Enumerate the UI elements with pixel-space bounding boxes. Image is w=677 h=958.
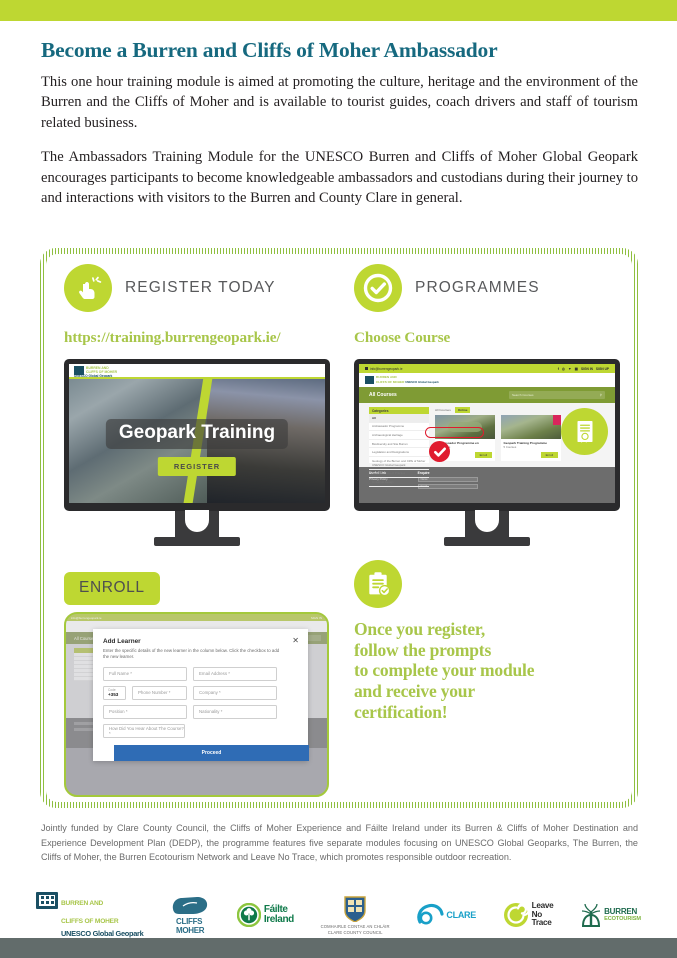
sign-in-link[interactable]: SIGN IN <box>581 367 593 371</box>
course-enroll-button[interactable]: Enroll <box>541 452 558 458</box>
company-field[interactable]: Company * <box>193 686 277 700</box>
logo-line-2: CLIFFS OF MOHER <box>86 370 117 374</box>
position-field[interactable]: Position * <box>103 705 187 719</box>
add-learner-dialog: Add Learner ✕ Enter the specific details… <box>93 629 308 761</box>
logo-sub: UNESCO Global Geopark <box>61 929 143 938</box>
calendar-icon[interactable]: ▦ <box>575 367 578 371</box>
clare-swirl-icon <box>416 902 446 928</box>
category-item[interactable]: Biodiversity and Site Burren <box>369 440 429 449</box>
logo-burren-cliffs-moher-geopark: BURREN AND CLIFFS OF MOHER UNESCO Global… <box>36 892 143 938</box>
step-enroll: ENROLL <box>64 572 344 605</box>
logo-sub: UNESCO Global Geopark <box>405 380 439 384</box>
search-input[interactable]: Search Courses ⚲ <box>509 391 605 399</box>
cliff-shape-icon <box>170 895 210 917</box>
highlight-ring-annotation <box>425 427 484 438</box>
monitor-neck <box>465 511 509 537</box>
logo-line-2: CLIFFS OF MOHER <box>376 380 404 384</box>
check-circle-icon <box>354 264 402 312</box>
logo-line-1: BURREN AND <box>61 900 103 907</box>
intro-paragraph-2: The Ambassadors Training Module for the … <box>41 147 638 209</box>
column-left: REGISTER TODAY https://training.burrenge… <box>64 260 344 797</box>
enroll-badge: ENROLL <box>64 572 160 605</box>
logo-line-1: CLARE <box>446 910 476 920</box>
column-right: PROGRAMMES Choose Course info@burrengeop… <box>354 260 624 722</box>
geopark-logo-mark <box>365 376 374 384</box>
crest-icon <box>343 895 367 922</box>
panel-content: REGISTER TODAY https://training.burrenge… <box>40 248 638 808</box>
category-item[interactable]: Geology of the Burren and Cliffs of Mohe… <box>369 457 429 470</box>
monitor-base <box>154 537 240 546</box>
categories-panel: Categories All Ambassador Programme Arch… <box>369 407 429 463</box>
search-icon[interactable]: ⚲ <box>600 393 602 397</box>
course-tag <box>553 415 561 425</box>
funding-statement: Jointly funded by Clare County Council, … <box>41 821 638 865</box>
check-mark-annotation <box>429 441 450 462</box>
logo-line-2: CLARE COUNTY COUNCIL <box>328 930 383 935</box>
spiral-icon <box>503 902 529 928</box>
logo-visit-clare: CLARE <box>416 902 476 928</box>
certify-line-1: Once you register, <box>354 619 485 639</box>
bottom-accent-bar <box>0 938 677 958</box>
top-accent-bar <box>0 0 677 21</box>
step-programmes: PROGRAMMES <box>354 260 624 316</box>
logo-cliffs-of-moher: CLIFFS MOHER <box>170 895 210 935</box>
nationality-field[interactable]: Nationality * <box>193 705 277 719</box>
logo-line-1: BURREN AND <box>376 375 397 379</box>
step-certify: Once you register, follow the prompts to… <box>354 560 624 722</box>
certify-text: Once you register, follow the prompts to… <box>354 619 624 722</box>
clipboard-check-icon <box>354 560 402 608</box>
categories-header: Categories <box>369 407 429 414</box>
logo-clare-county-council: COMHAIRLE CONTAE AN CHLÁIR CLARE COUNTY … <box>321 895 390 935</box>
intro-section: Become a Burren and Cliffs of Moher Amba… <box>41 38 638 209</box>
site-brand-bar: BURREN AND CLIFFS OF MOHER UNESCO Global… <box>359 373 615 387</box>
partner-logos: BURREN AND CLIFFS OF MOHER UNESCO Global… <box>36 893 641 937</box>
courses-navbar: All Courses Search Courses ⚲ <box>359 387 615 403</box>
monitor-neck <box>175 511 219 537</box>
site-utility-bar: info@burrengeopark.ie f ◎ ▼ ▦ SIGN IN SI… <box>359 364 615 373</box>
geopark-logo-mark <box>36 892 58 909</box>
tab-all-courses[interactable]: All Courses <box>435 408 451 412</box>
search-placeholder: Search Courses <box>512 393 534 397</box>
hero-title: Geopark Training <box>106 419 288 449</box>
category-item[interactable]: All <box>369 414 429 423</box>
course-meta: 5 Courses <box>501 445 561 451</box>
screen-enroll: info@burrengeopark.ie SIGN IN All Course… <box>64 612 329 797</box>
logo-sub: UNESCO Global Geopark <box>74 374 112 378</box>
tree-icon <box>580 902 602 928</box>
contact-email[interactable]: info@burrengeopark.ie <box>370 367 402 371</box>
certificate-icon <box>561 408 608 455</box>
courses-nav-title: All Courses <box>369 392 397 398</box>
logo-failte-ireland: Fáilte Ireland <box>237 903 294 927</box>
logo-line-2: Ireland <box>264 914 294 925</box>
site-header: BURREN AND CLIFFS OF MOHER UNESCO Global… <box>69 364 325 379</box>
click-hand-icon <box>64 264 112 312</box>
phone-number-field[interactable]: Phone Number * <box>132 686 187 700</box>
country-code-field[interactable]: Code +353 <box>103 686 126 700</box>
full-name-field[interactable]: Full Name * <box>103 667 187 681</box>
hero-image: Geopark Training REGISTER <box>69 379 325 503</box>
logo-leave-no-trace: Leave No Trace <box>503 902 554 928</box>
certify-line-4: and receive your <box>354 681 475 701</box>
step-programmes-label: PROGRAMMES <box>415 279 540 297</box>
enroll-email: info@burrengeopark.ie <box>71 616 102 620</box>
instagram-icon[interactable]: ◎ <box>562 367 565 371</box>
category-item[interactable]: Universal Design <box>369 478 429 487</box>
how-did-you-hear-field[interactable]: How Did You Hear About The Course? * <box>103 724 185 738</box>
screen-register: BURREN AND CLIFFS OF MOHER UNESCO Global… <box>69 364 325 503</box>
enroll-auth: SIGN IN <box>311 616 322 620</box>
facebook-icon[interactable]: f <box>558 367 559 371</box>
mail-icon <box>365 367 368 370</box>
course-thumbnail <box>501 415 561 439</box>
certify-line-5: certification! <box>354 702 447 722</box>
choose-course-label: Choose Course <box>354 329 624 347</box>
category-item[interactable]: Ambassador Programme <box>369 423 429 432</box>
logo-line-2: CLIFFS OF MOHER <box>61 918 118 925</box>
proceed-button[interactable]: Proceed <box>114 745 309 761</box>
category-item[interactable]: Geopark Code of Practice <box>369 470 429 479</box>
shamrock-icon <box>237 903 261 927</box>
monitor-bezel: BURREN AND CLIFFS OF MOHER UNESCO Global… <box>64 359 330 511</box>
hero-register-button[interactable]: REGISTER <box>158 457 236 476</box>
step-register: REGISTER TODAY <box>64 260 344 316</box>
monitor-register: BURREN AND CLIFFS OF MOHER UNESCO Global… <box>64 359 330 546</box>
country-code-value: +353 <box>108 692 118 697</box>
category-item[interactable]: Archaeological Heritage <box>369 431 429 440</box>
logo-line-3: Trace <box>532 918 552 927</box>
page-title: Become a Burren and Cliffs of Moher Amba… <box>41 38 638 63</box>
poster-page: Become a Burren and Cliffs of Moher Amba… <box>0 0 677 958</box>
close-icon[interactable]: ✕ <box>292 637 299 645</box>
training-url[interactable]: https://training.burrengeopark.ie/ <box>64 329 344 347</box>
logo-line-1: COMHAIRLE CONTAE AN CHLÁIR <box>321 924 390 929</box>
logo-burren-ecotourism: BURREN ECOTOURISM <box>580 902 641 928</box>
tab-online[interactable]: Online <box>455 407 471 413</box>
twitter-icon[interactable]: ▼ <box>568 367 572 371</box>
dialog-description: Enter the specific details of the new le… <box>103 648 285 661</box>
dialog-title: Add Learner <box>103 638 298 645</box>
monitor-base <box>444 537 530 546</box>
certify-line-2: follow the prompts <box>354 640 491 660</box>
category-item[interactable]: Legislation and Designations <box>369 448 429 457</box>
logo-line-2: MOHER <box>176 926 204 935</box>
step-register-label: REGISTER TODAY <box>125 279 276 297</box>
enroll-site-utilbar: info@burrengeopark.ie SIGN IN <box>66 614 327 621</box>
steps-panel: REGISTER TODAY https://training.burrenge… <box>40 248 638 808</box>
sign-up-link[interactable]: SIGN UP <box>596 367 609 371</box>
email-address-field[interactable]: Email Address * <box>193 667 277 681</box>
intro-paragraph-1: This one hour training module is aimed a… <box>41 72 638 134</box>
certify-line-3: to complete your module <box>354 660 534 680</box>
course-enroll-button[interactable]: Enroll <box>475 452 492 458</box>
course-card[interactable]: Geopark Training Programme 5 Courses Enr… <box>501 415 561 462</box>
dialog-fields: Full Name * Email Address * Code +353 Ph… <box>103 667 298 738</box>
